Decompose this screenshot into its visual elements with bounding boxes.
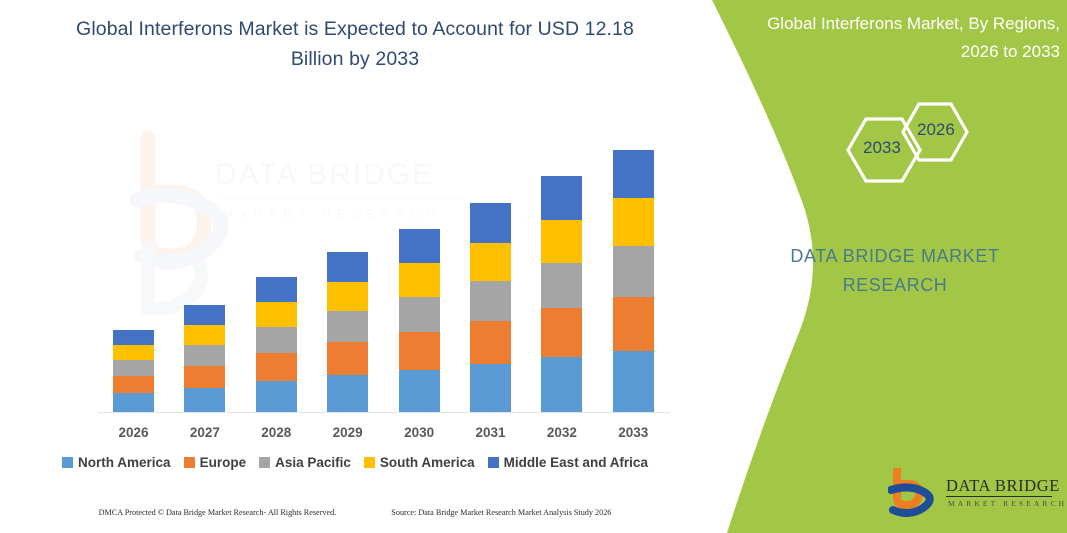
legend-item-asia-pacific[interactable]: Asia Pacific bbox=[259, 455, 351, 470]
bar-segment-2029-north-america[interactable] bbox=[327, 375, 368, 412]
legend-swatch-icon bbox=[364, 457, 375, 468]
brand-heading-line1: DATA BRIDGE MARKET bbox=[790, 246, 999, 266]
brand-panel-content: Global Interferons Market, By Regions, 2… bbox=[710, 0, 1067, 533]
bar-segment-2030-europe[interactable] bbox=[399, 332, 440, 370]
bar-segment-2028-asia-pacific[interactable] bbox=[256, 327, 297, 353]
x-axis-label-2029: 2029 bbox=[313, 425, 383, 440]
bar-segment-2027-north-america[interactable] bbox=[184, 388, 225, 412]
bar-2031[interactable] bbox=[470, 203, 511, 412]
x-axis-label-2032: 2032 bbox=[527, 425, 597, 440]
bar-segment-2031-south-america[interactable] bbox=[470, 243, 511, 281]
bar-segment-2031-middle-east-and-africa[interactable] bbox=[470, 203, 511, 243]
legend-swatch-icon bbox=[488, 457, 499, 468]
legend-item-north-america[interactable]: North America bbox=[62, 455, 171, 470]
brand-logo-tagline: MARKET RESEARCH bbox=[948, 499, 1067, 508]
hexagon-2033-label: 2033 bbox=[863, 138, 901, 158]
chart-legend: North AmericaEuropeAsia PacificSouth Ame… bbox=[0, 455, 710, 470]
bar-2033[interactable] bbox=[613, 150, 654, 412]
bar-segment-2027-south-america[interactable] bbox=[184, 325, 225, 345]
footer: DMCA Protected © Data Bridge Market Rese… bbox=[0, 508, 710, 517]
bar-segment-2033-europe[interactable] bbox=[613, 297, 654, 351]
x-axis-label-2026: 2026 bbox=[99, 425, 169, 440]
bar-segment-2030-south-america[interactable] bbox=[399, 263, 440, 297]
region-title: Global Interferons Market, By Regions, 2… bbox=[730, 10, 1060, 66]
x-axis-label-2031: 2031 bbox=[456, 425, 526, 440]
bar-segment-2031-europe[interactable] bbox=[470, 321, 511, 364]
legend-label: Europe bbox=[200, 455, 247, 470]
bars-container bbox=[0, 0, 710, 412]
bar-segment-2028-middle-east-and-africa[interactable] bbox=[256, 277, 297, 302]
bar-2026[interactable] bbox=[113, 330, 154, 412]
bar-segment-2030-north-america[interactable] bbox=[399, 370, 440, 412]
bar-segment-2028-north-america[interactable] bbox=[256, 381, 297, 412]
chart-panel: Global Interferons Market is Expected to… bbox=[0, 0, 710, 533]
x-axis-label-2033: 2033 bbox=[598, 425, 668, 440]
bar-segment-2029-asia-pacific[interactable] bbox=[327, 311, 368, 342]
bar-segment-2026-north-america[interactable] bbox=[113, 393, 154, 412]
bar-segment-2033-south-america[interactable] bbox=[613, 198, 654, 246]
brand-logo: DATA BRIDGE MARKET RESEARCH bbox=[888, 468, 1058, 520]
x-axis-label-2028: 2028 bbox=[241, 425, 311, 440]
bar-segment-2033-north-america[interactable] bbox=[613, 351, 654, 412]
bar-segment-2026-asia-pacific[interactable] bbox=[113, 360, 154, 376]
plot-area: 20262027202820292030203120322033 bbox=[0, 0, 710, 470]
hexagon-2026-label: 2026 bbox=[917, 120, 955, 140]
footer-source: Source: Data Bridge Market Research Mark… bbox=[391, 508, 611, 517]
legend-label: Asia Pacific bbox=[275, 455, 351, 470]
x-axis-label-2030: 2030 bbox=[384, 425, 454, 440]
bar-segment-2026-middle-east-and-africa[interactable] bbox=[113, 330, 154, 345]
footer-copyright: DMCA Protected © Data Bridge Market Rese… bbox=[99, 508, 337, 517]
x-axis-label-2027: 2027 bbox=[170, 425, 240, 440]
brand-heading: DATA BRIDGE MARKET RESEARCH bbox=[730, 242, 1060, 300]
x-axis-line bbox=[98, 412, 670, 413]
bar-segment-2027-europe[interactable] bbox=[184, 366, 225, 388]
bar-segment-2032-asia-pacific[interactable] bbox=[541, 263, 582, 308]
legend-item-south-america[interactable]: South America bbox=[364, 455, 475, 470]
bar-2027[interactable] bbox=[184, 305, 225, 412]
legend-label: Middle East and Africa bbox=[504, 455, 648, 470]
legend-item-middle-east-and-africa[interactable]: Middle East and Africa bbox=[488, 455, 648, 470]
brand-logo-name: DATA BRIDGE bbox=[946, 476, 1060, 496]
data-bridge-logo-icon bbox=[888, 468, 944, 518]
bar-segment-2027-middle-east-and-africa[interactable] bbox=[184, 305, 225, 325]
bar-segment-2032-north-america[interactable] bbox=[541, 357, 582, 412]
bar-segment-2033-asia-pacific[interactable] bbox=[613, 246, 654, 297]
bar-segment-2032-south-america[interactable] bbox=[541, 220, 582, 263]
bar-2030[interactable] bbox=[399, 229, 440, 412]
bar-segment-2028-south-america[interactable] bbox=[256, 302, 297, 327]
bar-segment-2032-europe[interactable] bbox=[541, 308, 582, 357]
legend-swatch-icon bbox=[184, 457, 195, 468]
bar-segment-2030-asia-pacific[interactable] bbox=[399, 297, 440, 332]
bar-segment-2026-south-america[interactable] bbox=[113, 345, 154, 360]
bar-segment-2029-middle-east-and-africa[interactable] bbox=[327, 252, 368, 282]
bar-segment-2032-middle-east-and-africa[interactable] bbox=[541, 176, 582, 220]
bar-segment-2029-europe[interactable] bbox=[327, 342, 368, 375]
brand-heading-line2: RESEARCH bbox=[843, 275, 948, 295]
bar-segment-2030-middle-east-and-africa[interactable] bbox=[399, 229, 440, 263]
legend-label: South America bbox=[380, 455, 475, 470]
bar-segment-2031-asia-pacific[interactable] bbox=[470, 281, 511, 321]
legend-label: North America bbox=[78, 455, 171, 470]
brand-logo-divider bbox=[946, 496, 1052, 497]
bar-segment-2026-europe[interactable] bbox=[113, 376, 154, 393]
bar-2029[interactable] bbox=[327, 252, 368, 412]
bar-segment-2027-asia-pacific[interactable] bbox=[184, 345, 225, 366]
infographic-root: Global Interferons Market is Expected to… bbox=[0, 0, 1067, 533]
bar-2032[interactable] bbox=[541, 176, 582, 412]
legend-item-europe[interactable]: Europe bbox=[184, 455, 247, 470]
legend-swatch-icon bbox=[62, 457, 73, 468]
bar-segment-2028-europe[interactable] bbox=[256, 353, 297, 381]
hexagon-group: 2033 2026 bbox=[815, 95, 985, 210]
bar-segment-2029-south-america[interactable] bbox=[327, 282, 368, 311]
legend-swatch-icon bbox=[259, 457, 270, 468]
bar-segment-2033-middle-east-and-africa[interactable] bbox=[613, 150, 654, 198]
bar-2028[interactable] bbox=[256, 277, 297, 412]
bar-segment-2031-north-america[interactable] bbox=[470, 364, 511, 412]
